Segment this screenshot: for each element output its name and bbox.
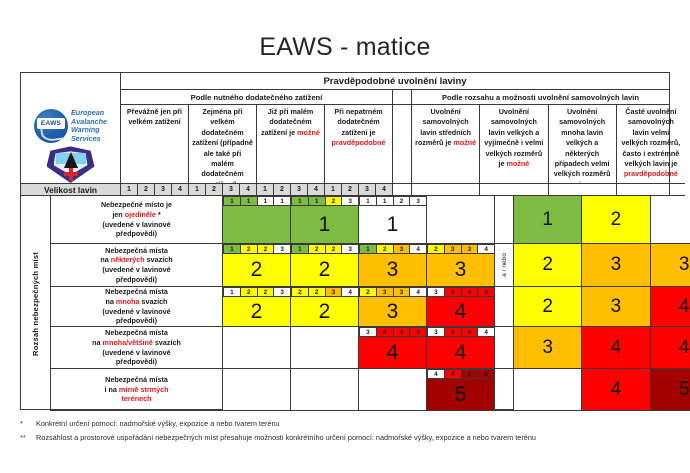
size-tick-4: 4 <box>240 184 256 195</box>
size-tick-group: 1234 <box>189 184 256 195</box>
footnote-1-mark: * <box>20 418 36 430</box>
page-title: EAWS - matice <box>0 33 690 62</box>
matrix-cell-value: 3 <box>359 297 426 326</box>
matrix-cell-right-1[interactable] <box>514 369 582 411</box>
and-or-separator <box>495 196 514 244</box>
header-col-right-4: Časté uvolnění samovolných lavin velmi v… <box>617 105 685 184</box>
row-description: Nebezpečná místana některých svazích(uve… <box>51 244 223 287</box>
row-description-line: na některých svazích <box>100 255 172 265</box>
subcell: 2 <box>359 287 377 297</box>
subcell: 2 <box>291 287 309 297</box>
subcell: 4 <box>477 287 495 297</box>
size-ticks-left-2: 1234 <box>189 184 257 196</box>
matrix-cell-value: 2 <box>223 297 290 326</box>
subcell: 2 <box>240 244 258 254</box>
footnotes: * Konkrétní určení pomocí: nadmořské výš… <box>20 418 680 446</box>
size-ticks-left-4: 1234 <box>325 184 393 196</box>
subcell: 2 <box>325 244 343 254</box>
subcell: 3 <box>393 244 411 254</box>
size-tick-group: 1234 <box>121 184 188 195</box>
subcell-strip: 2334 <box>359 287 426 297</box>
subcell: 3 <box>273 287 291 297</box>
subcell: 1 <box>240 196 258 206</box>
footnote-1: * Konkrétní určení pomocí: nadmořské výš… <box>20 418 680 430</box>
subcell: 1 <box>291 244 309 254</box>
header-col-left-3: Již při malém dodatečném zatížení je mož… <box>257 105 325 184</box>
subcell: 2 <box>257 287 275 297</box>
matrix-cell-left-1[interactable]: 12232 <box>223 244 291 287</box>
subcell-strip: 1234 <box>359 244 426 254</box>
row-description-line: předpovědi) <box>101 229 172 239</box>
header-main-title: Pravděpodobné uvolnění laviny <box>121 73 669 90</box>
matrix-row: Rozsah nebezpečných místNebezpečné místo… <box>21 196 669 244</box>
subcell: 1 <box>308 196 326 206</box>
subcell: 3 <box>409 196 427 206</box>
matrix-cell-value <box>291 327 358 368</box>
subcell: 2 <box>240 287 258 297</box>
matrix-cell-left-4[interactable]: 34444 <box>427 287 495 327</box>
subcell: 4 <box>444 287 462 297</box>
header-gap-cell <box>393 105 412 184</box>
subcell: 1 <box>291 196 309 206</box>
avalanche-size-label: Velikost lavin <box>21 184 121 196</box>
subcell: 2 <box>308 287 326 297</box>
eaws-logo-cell: EAWS European Avalanche Warning Services <box>21 105 121 184</box>
matrix-cell-left-4[interactable]: 34444 <box>427 327 495 369</box>
matrix-cell-value: 4 <box>427 337 494 368</box>
subcell: 3 <box>461 244 479 254</box>
matrix-cell-right-3[interactable]: 5 <box>651 369 690 411</box>
size-tick-2: 2 <box>206 184 223 195</box>
header-col-right-1: Uvolnění samovolných lavin středních roz… <box>412 105 480 184</box>
subcell-strip: 3444 <box>427 327 494 337</box>
header-col-left-2: Zejména při velkém dodatečném zatížení (… <box>189 105 257 184</box>
matrix-cell-left-1[interactable] <box>223 327 291 369</box>
subcell: 4 <box>477 244 495 254</box>
size-tick-group: 1234 <box>257 184 324 195</box>
size-tick-1: 1 <box>257 184 274 195</box>
subcell: 4 <box>461 287 479 297</box>
size-tick-3: 3 <box>155 184 172 195</box>
eaws-name: European Avalanche Warning Services <box>71 109 107 143</box>
subcell: 1 <box>223 196 241 206</box>
matrix-cell-value <box>359 369 426 410</box>
subcell: 1 <box>223 287 241 297</box>
and-or-separator-text: a / nebo <box>501 253 508 277</box>
matrix-cell-left-4[interactable]: 44555 <box>427 369 495 411</box>
subcell: 4 <box>376 327 394 337</box>
row-description-line: Nebezpečná místa <box>92 328 181 338</box>
matrix-cell-right-1[interactable]: 2 <box>514 287 582 327</box>
matrix-cell-right-3[interactable]: 4 <box>651 327 690 369</box>
size-tick-2: 2 <box>138 184 155 195</box>
subcell: 2 <box>393 196 411 206</box>
matrix-cell-value: 2 <box>223 254 290 286</box>
matrix-cell-left-2[interactable]: 22342 <box>291 287 359 327</box>
subcell: 1 <box>273 196 291 206</box>
matrix-cell-right-1[interactable]: 3 <box>514 327 582 369</box>
subcell: 2 <box>308 244 326 254</box>
matrix-cell-left-3[interactable]: 11231 <box>359 196 427 244</box>
subcell: 2 <box>257 244 275 254</box>
size-tick-3: 3 <box>223 184 240 195</box>
row-description-line: (uvedené v lavinové <box>102 307 170 317</box>
row-description-line: na mnoha/většině svazích <box>92 338 181 348</box>
subcell-strip: 1123 <box>359 196 426 206</box>
subcell: 2 <box>325 196 343 206</box>
header-columns-row: EAWS European Avalanche Warning Services <box>21 105 669 184</box>
matrix-cell-left-1[interactable]: 1111 <box>223 196 291 244</box>
eaws-matrix-table: Pravděpodobné uvolnění laviny Podle nutn… <box>20 72 670 410</box>
and-or-separator <box>495 287 514 327</box>
subcell-strip: 1223 <box>291 244 358 254</box>
footnote-2-mark: ** <box>20 432 36 444</box>
subcell: 3 <box>393 287 411 297</box>
size-tick-2: 2 <box>342 184 359 195</box>
subcell: 4 <box>409 327 427 337</box>
matrix-cell-value <box>223 206 290 243</box>
and-or-separator <box>495 327 514 369</box>
matrix-cell-value: 1 <box>359 206 426 243</box>
and-or-separator: a / nebo <box>495 244 514 287</box>
subcell: 3 <box>359 327 377 337</box>
subcell: 1 <box>359 244 377 254</box>
matrix-cell-value: 1 <box>291 206 358 243</box>
footnote-1-text: Konkrétní určení pomocí: nadmořské výšky… <box>36 418 280 430</box>
subcell: 3 <box>325 287 343 297</box>
matrix-cell-right-2[interactable]: 3 <box>582 244 650 287</box>
subcell-strip: 4455 <box>427 369 494 379</box>
matrix-cell-value <box>427 196 494 243</box>
row-description-line: jen ojediněle * <box>101 210 172 220</box>
header-col-left-4: Při nepatrném dodatečném zatížení je pra… <box>325 105 393 184</box>
size-ticks-left-3: 1234 <box>257 184 325 196</box>
mountain-rescue-badge-icon <box>47 146 95 183</box>
row-description-line: předpovědi) <box>100 275 172 285</box>
subcell: 4 <box>341 287 359 297</box>
matrix-cell-right-1[interactable]: 1 <box>514 196 582 244</box>
matrix-cell-value <box>291 369 358 410</box>
size-blank-right-2 <box>480 184 548 196</box>
header-col-right-2: Uvolnění samovolných lavin velkých a vyj… <box>480 105 548 184</box>
size-tick-4: 4 <box>376 184 392 195</box>
matrix-row: Nebezpečná místana mnoha/většině svazích… <box>21 327 669 369</box>
subcell: 4 <box>427 369 445 379</box>
matrix-body: Rozsah nebezpečných místNebezpečné místo… <box>21 196 669 411</box>
matrix-row: Nebezpečná místai na mírně strmýchteréne… <box>21 369 669 411</box>
size-blank-right-1 <box>412 184 480 196</box>
row-description-line: Nebezpečná místa <box>102 287 170 297</box>
subcell: 2 <box>376 244 394 254</box>
and-or-separator <box>495 369 514 411</box>
size-blank-right-3 <box>549 184 617 196</box>
matrix-cell-left-2[interactable]: 12232 <box>291 244 359 287</box>
subcell: 4 <box>444 327 462 337</box>
avalanche-size-row: Velikost lavin 1234 1234 1234 1234 <box>21 184 669 196</box>
row-description-line: na mnoha svazích <box>102 297 170 307</box>
eaws-matrix-page: EAWS - matice Pravděpodobné uvolnění lav… <box>0 0 690 473</box>
row-description: Nebezpečné místo jejen ojediněle *(uvede… <box>51 196 223 244</box>
row-description-line: Nebezpečná místa <box>100 246 172 256</box>
matrix-row: Nebezpečná místana některých svazích(uve… <box>21 244 669 287</box>
size-tick-2: 2 <box>274 184 291 195</box>
subcell-strip: 3444 <box>427 287 494 297</box>
size-ticks-left-1: 1234 <box>121 184 189 196</box>
header-group-gap <box>393 90 412 105</box>
eaws-abbr: EAWS <box>37 118 65 129</box>
subcell: 1 <box>223 244 241 254</box>
row-description-line: i na mírně strmých <box>105 385 169 395</box>
subcell: 3 <box>273 244 291 254</box>
matrix-cell-left-1[interactable] <box>223 369 291 411</box>
subcell: 5 <box>461 369 479 379</box>
row-description-line: (uvedené v lavinové <box>100 265 172 275</box>
subcell-strip: 3444 <box>359 327 426 337</box>
subcell: 5 <box>477 369 495 379</box>
size-tick-3: 3 <box>359 184 376 195</box>
matrix-cell-left-4[interactable] <box>427 196 495 244</box>
subcell: 4 <box>444 369 462 379</box>
subcell: 3 <box>341 244 359 254</box>
header-group-row: Podle nutného dodatečného zatížení Podle… <box>21 90 669 105</box>
row-description-line: předpovědi) <box>102 316 170 326</box>
logo-cell-spacer-sub <box>21 90 121 105</box>
matrix-cell-right-3[interactable]: 4 <box>651 287 690 327</box>
matrix-cell-left-2[interactable] <box>291 327 359 369</box>
subcell-strip: 1223 <box>223 244 290 254</box>
header-group-left: Podle nutného dodatečného zatížení <box>121 90 393 105</box>
subcell: 4 <box>393 327 411 337</box>
matrix-cell-left-2[interactable] <box>291 369 359 411</box>
subcell: 2 <box>427 244 445 254</box>
extent-axis-label-text: Rozsah nebezpečných míst <box>31 252 40 356</box>
matrix-cell-value: 3 <box>427 254 494 286</box>
extent-axis-spacer <box>21 369 51 411</box>
subcell: 4 <box>409 244 427 254</box>
row-description-line: předpovědi) <box>92 357 181 367</box>
subcell: 3 <box>444 244 462 254</box>
size-blank-right-4 <box>617 184 685 196</box>
matrix-cell-left-3[interactable]: 23343 <box>359 287 427 327</box>
eaws-logo: EAWS European Avalanche Warning Services <box>34 109 107 143</box>
subcell: 3 <box>427 327 445 337</box>
size-tick-3: 3 <box>291 184 308 195</box>
footnote-2: ** Rozsáhlost a prostorové uspořádání ne… <box>20 432 680 444</box>
matrix-cell-right-1[interactable]: 2 <box>514 244 582 287</box>
size-tick-4: 4 <box>308 184 324 195</box>
subcell: 1 <box>376 196 394 206</box>
matrix-cell-right-3[interactable] <box>651 196 690 244</box>
row-description-line: Nebezpečná místa <box>105 375 169 385</box>
row-description: Nebezpečná místai na mírně strmýchteréne… <box>51 369 223 411</box>
matrix-cell-left-4[interactable]: 23343 <box>427 244 495 287</box>
size-tick-1: 1 <box>189 184 206 195</box>
row-description: Nebezpečná místana mnoha/většině svazích… <box>51 327 223 369</box>
matrix-cell-value: 3 <box>359 254 426 286</box>
size-tick-1: 1 <box>325 184 342 195</box>
subcell: 4 <box>409 287 427 297</box>
eaws-globe-icon: EAWS <box>34 109 68 143</box>
matrix-cell-value: 4 <box>427 297 494 326</box>
size-tick-4: 4 <box>172 184 188 195</box>
subcell: 4 <box>477 327 495 337</box>
subcell: 3 <box>341 196 359 206</box>
subcell-strip: 2234 <box>291 287 358 297</box>
subcell-strip: 1223 <box>223 287 290 297</box>
header-col-left-1: Převážně jen při velkém zatížení <box>121 105 189 184</box>
matrix-cell-right-3[interactable]: 3 <box>651 244 690 287</box>
matrix-cell-value: 4 <box>359 337 426 368</box>
matrix-cell-value <box>223 327 290 368</box>
matrix-cell-right-2[interactable]: 2 <box>582 196 650 244</box>
header-group-right: Podle rozsahu a možnosti uvolnění samovo… <box>412 90 669 105</box>
size-gap-cell <box>393 184 412 196</box>
footnote-2-text: Rozsáhlost a prostorové uspořádání nebez… <box>36 432 536 444</box>
matrix-cell-value <box>223 369 290 410</box>
subcell-strip: 2334 <box>427 244 494 254</box>
row-description-line: terénech <box>105 394 169 404</box>
eaws-name-line-4: Services <box>71 135 107 144</box>
matrix-cell-right-2[interactable]: 4 <box>582 327 650 369</box>
matrix-cell-left-1[interactable]: 12232 <box>223 287 291 327</box>
matrix-cell-value: 2 <box>291 254 358 286</box>
logo-cell-spacer-top <box>21 73 121 90</box>
row-description-line: (uvedené v lavinové <box>101 220 172 230</box>
matrix-cell-left-2[interactable]: 11231 <box>291 196 359 244</box>
size-tick-1: 1 <box>121 184 138 195</box>
size-tick-group: 1234 <box>325 184 392 195</box>
matrix-cell-left-3[interactable]: 12343 <box>359 244 427 287</box>
subcell: 3 <box>376 287 394 297</box>
subcell: 1 <box>257 196 275 206</box>
matrix-row: Nebezpečná místana mnoha svazích(uvedené… <box>21 287 669 327</box>
matrix-cell-left-3[interactable] <box>359 369 427 411</box>
row-description: Nebezpečná místana mnoha svazích(uvedené… <box>51 287 223 327</box>
subcell-strip: 1111 <box>223 196 290 206</box>
matrix-cell-right-2[interactable]: 4 <box>582 369 650 411</box>
header-main-row: Pravděpodobné uvolnění laviny <box>21 73 669 90</box>
subcell: 4 <box>461 327 479 337</box>
subcell-strip: 1123 <box>291 196 358 206</box>
matrix-cell-value: 5 <box>427 379 494 410</box>
matrix-cell-right-2[interactable]: 3 <box>582 287 650 327</box>
header-col-right-3: Uvolnění samovolných mnoha lavin velkých… <box>549 105 617 184</box>
row-description-line: Nebezpečné místo je <box>101 200 172 210</box>
matrix-cell-value: 2 <box>291 297 358 326</box>
row-description-line: (uvedené v lavinové <box>92 348 181 358</box>
subcell: 3 <box>427 287 445 297</box>
matrix-cell-left-3[interactable]: 34444 <box>359 327 427 369</box>
subcell: 1 <box>359 196 377 206</box>
